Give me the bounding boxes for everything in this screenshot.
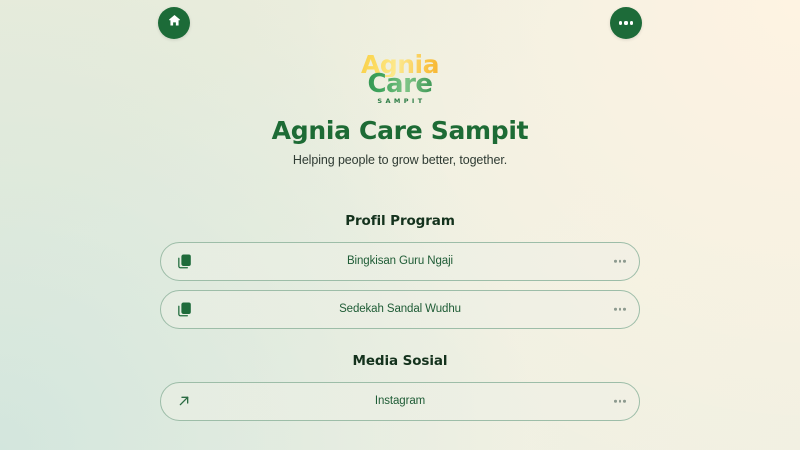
list-item-label: Bingkisan Guru Ngaji: [161, 255, 639, 267]
list-item[interactable]: Sedekah Sandal Wudhu: [160, 290, 640, 329]
more-horizontal-icon: [619, 21, 634, 24]
document-copy-icon: [175, 300, 193, 318]
list-item-more-button[interactable]: [614, 308, 626, 311]
list-item-label: Instagram: [161, 395, 639, 407]
logo-text-sampit: SAMPIT: [335, 98, 465, 105]
section-profil-program: Profil Program Bingkisan Guru Ngaji: [160, 213, 640, 329]
section-title-profil-program: Profil Program: [160, 213, 640, 229]
home-button[interactable]: [158, 7, 190, 39]
list-item-more-button[interactable]: [614, 400, 626, 403]
list-item-label: Sedekah Sandal Wudhu: [161, 303, 639, 315]
section-title-media-sosial: Media Sosial: [160, 353, 640, 369]
list-item[interactable]: Instagram: [160, 382, 640, 421]
home-icon: [167, 13, 182, 33]
page-title: Agnia Care Sampit: [272, 116, 529, 145]
list-item[interactable]: Bingkisan Guru Ngaji: [160, 242, 640, 281]
logo-text-care: Care: [335, 71, 465, 97]
page-subtitle: Helping people to grow better, together.: [293, 153, 507, 167]
external-link-arrow-icon: [175, 392, 193, 410]
link-in-bio-page: Agnia Care SAMPIT Agnia Care Sampit Help…: [0, 0, 800, 450]
section-media-sosial: Media Sosial Instagram: [160, 353, 640, 421]
list-item-more-button[interactable]: [614, 260, 626, 263]
link-list-media-sosial: Instagram: [160, 382, 640, 421]
brand-logo: Agnia Care SAMPIT: [335, 52, 465, 105]
document-copy-icon: [175, 252, 193, 270]
more-options-button[interactable]: [610, 7, 642, 39]
link-list-profil-program: Bingkisan Guru Ngaji Sedekah Sandal Wudh…: [160, 242, 640, 329]
